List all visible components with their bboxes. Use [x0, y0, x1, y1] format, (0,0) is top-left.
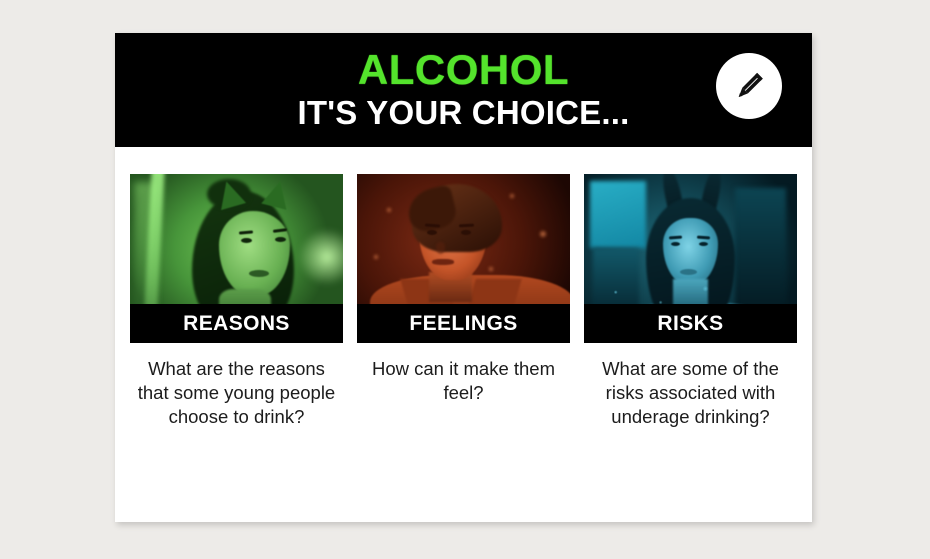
- pencil-icon: [729, 66, 769, 106]
- slide-subtitle: IT'S YOUR CHOICE...: [298, 95, 630, 131]
- presentation-slide: ALCOHOL IT'S YOUR CHOICE...: [115, 33, 812, 522]
- card-reasons-label: REASONS: [130, 304, 343, 343]
- card-risks-caption: What are some of the risks associated wi…: [591, 357, 791, 429]
- slide-header: ALCOHOL IT'S YOUR CHOICE...: [115, 33, 812, 147]
- card-grid: REASONS What are the reasons that some y…: [130, 174, 797, 429]
- slide-header-text: ALCOHOL IT'S YOUR CHOICE...: [115, 33, 812, 147]
- card-reasons-caption: What are the reasons that some young peo…: [137, 357, 337, 429]
- card-reasons-photo: REASONS: [130, 174, 343, 343]
- card-feelings-label: FEELINGS: [357, 304, 570, 343]
- slide-body: REASONS What are the reasons that some y…: [115, 147, 812, 522]
- slide-title: ALCOHOL: [358, 49, 569, 92]
- screenshot-stage: ALCOHOL IT'S YOUR CHOICE...: [0, 0, 930, 559]
- pencil-badge: [716, 53, 782, 119]
- card-risks[interactable]: RISKS What are some of the risks associa…: [584, 174, 797, 429]
- card-feelings-caption: How can it make them feel?: [364, 357, 564, 405]
- card-feelings-photo: FEELINGS: [357, 174, 570, 343]
- card-risks-photo: RISKS: [584, 174, 797, 343]
- card-risks-label: RISKS: [584, 304, 797, 343]
- card-feelings[interactable]: FEELINGS How can it make them feel?: [357, 174, 570, 429]
- card-reasons[interactable]: REASONS What are the reasons that some y…: [130, 174, 343, 429]
